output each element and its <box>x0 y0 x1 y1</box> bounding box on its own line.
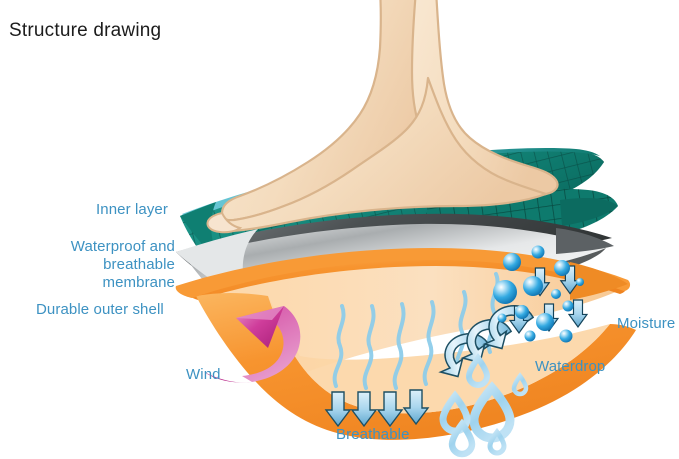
label-membrane-line1: Waterproof and <box>71 238 175 255</box>
label-durable-outer-shell: Durable outer shell <box>36 301 164 318</box>
label-waterdrop: Waterdrop <box>535 358 605 375</box>
label-wind: Wind <box>186 366 221 383</box>
label-moisture: Moisture <box>617 315 675 332</box>
diagram-canvas: Structure drawing <box>0 0 679 459</box>
label-breathable: Breathable <box>336 426 410 443</box>
foot-illustration <box>208 0 558 232</box>
label-waterproof-breathable-membrane: Waterproof and breathable membrane <box>38 238 175 292</box>
label-inner-layer: Inner layer <box>96 201 168 218</box>
label-membrane-line2: breathable membrane <box>103 256 176 291</box>
structure-illustration <box>0 0 679 459</box>
